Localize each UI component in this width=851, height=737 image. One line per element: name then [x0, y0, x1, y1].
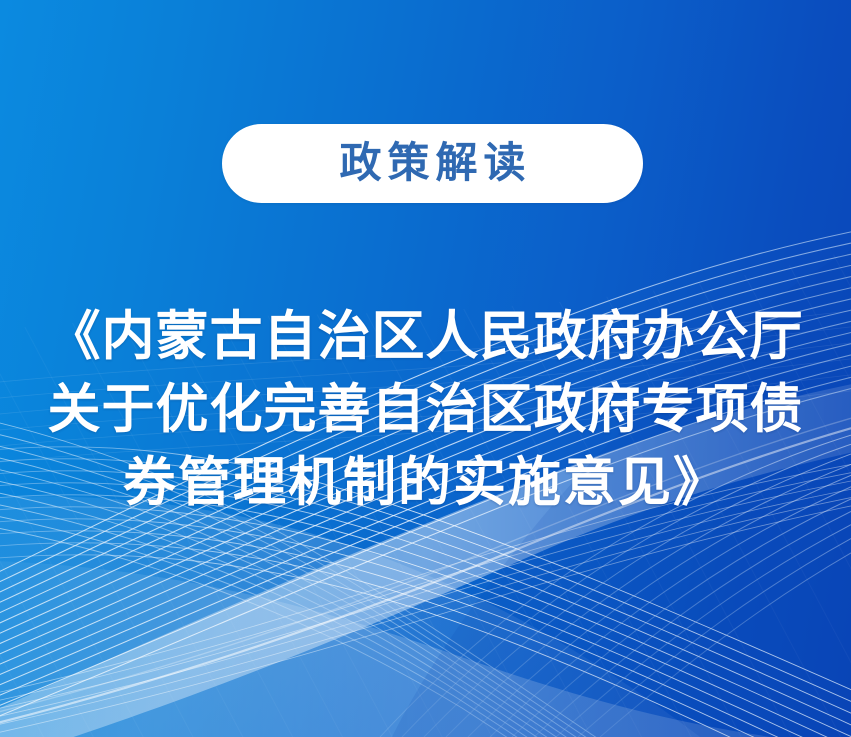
badge-label: 政策解读: [333, 143, 531, 185]
title-line-1: 《内蒙古自治区人民政府办公厅: [0, 300, 851, 373]
policy-interpretation-badge: 政策解读: [222, 124, 643, 203]
policy-interpretation-poster: 政策解读 《内蒙古自治区人民政府办公厅 关于优化完善自治区政府专项债 券管理机制…: [0, 0, 851, 737]
title-line-3: 券管理机制的实施意见》: [0, 446, 851, 519]
title-line-2: 关于优化完善自治区政府专项债: [0, 373, 851, 446]
document-title: 《内蒙古自治区人民政府办公厅 关于优化完善自治区政府专项债 券管理机制的实施意见…: [0, 300, 851, 519]
